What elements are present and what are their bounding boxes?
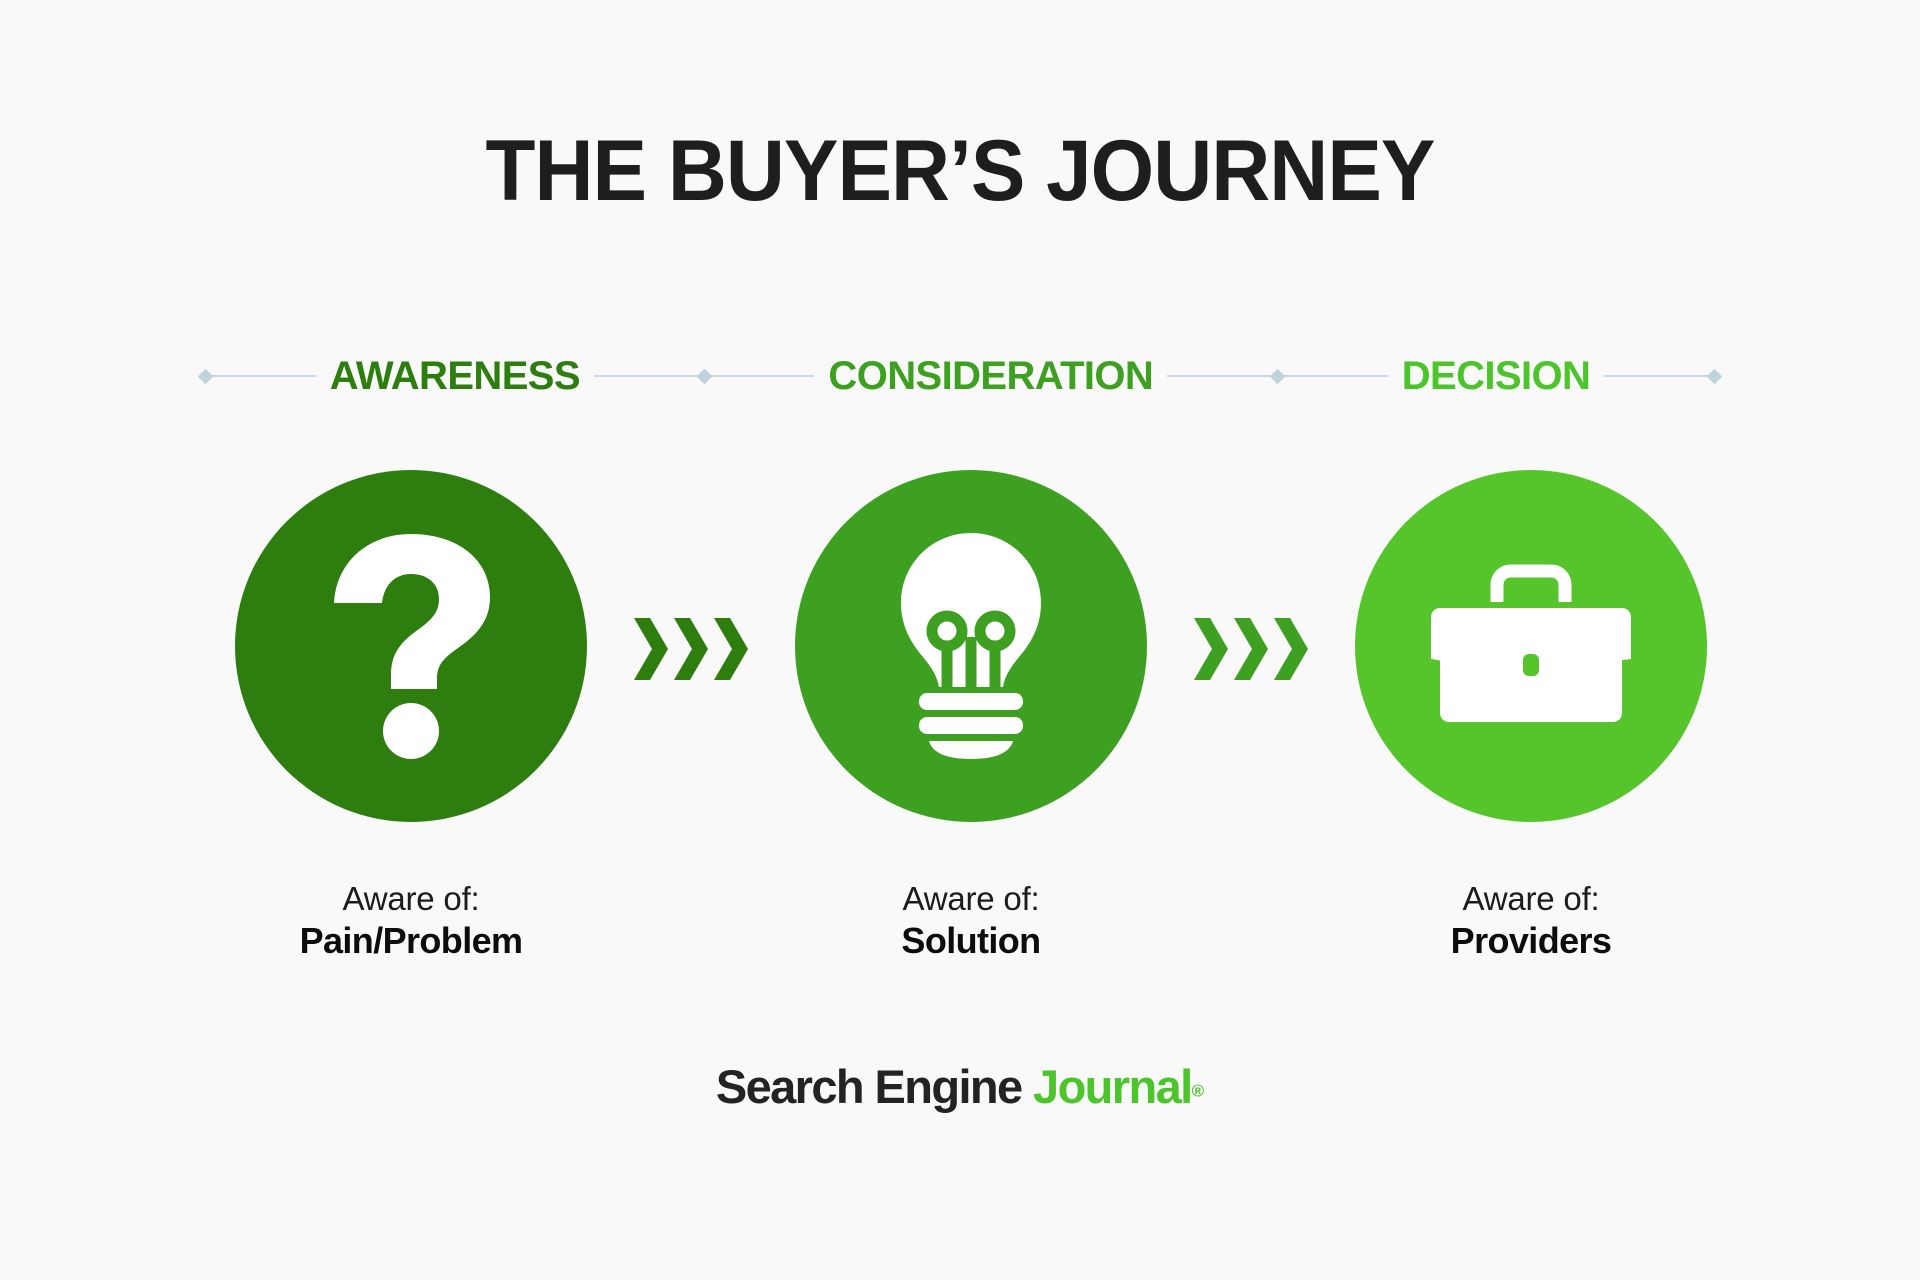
chevrons-right-icon [1194,618,1228,680]
timeline-segment [1604,375,1709,377]
connector-chevrons-1 [634,618,748,680]
chevrons-right-icon [674,618,708,680]
caption-value: Solution [795,919,1147,963]
stage-label-decision: DECISION [1388,356,1605,396]
chevrons-right-icon [714,618,748,680]
lightbulb-icon [881,533,1061,759]
diamond-marker-icon [696,368,712,384]
stage-circles-row [0,470,1920,830]
stage-label-consideration: CONSIDERATION [814,356,1167,396]
chevrons-right-icon [1274,618,1308,680]
caption-prefix: Aware of: [1355,880,1707,919]
diamond-marker-icon [1707,368,1723,384]
caption-consideration: Aware of: Solution [795,880,1147,963]
briefcase-icon [1426,560,1636,732]
stage-circle-consideration [795,470,1147,822]
caption-prefix: Aware of: [235,880,587,919]
caption-value: Pain/Problem [235,919,587,963]
timeline-segment [1167,375,1272,377]
brand-logo: Search Engine Journal® [0,1063,1920,1110]
stage-label-awareness: AWARENESS [316,356,594,396]
chevrons-right-icon [634,618,668,680]
caption-awareness: Aware of: Pain/Problem [235,880,587,963]
page-title: THE BUYER’S JOURNEY [48,128,1872,214]
timeline-segment [211,375,316,377]
logo-text-green: Journal [1033,1060,1192,1113]
caption-value: Providers [1355,919,1707,963]
stage-captions-row: Aware of: Pain/Problem Aware of: Solutio… [0,880,1920,1010]
timeline-segment [1283,375,1388,377]
logo-text-dark: Search Engine [716,1060,1022,1113]
timeline-segment [710,375,815,377]
diamond-marker-icon [198,368,214,384]
diamond-marker-icon [1270,368,1286,384]
question-mark-icon [316,531,506,761]
timeline-segment [594,375,699,377]
stage-circle-decision [1355,470,1707,822]
infographic-canvas: THE BUYER’S JOURNEY AWARENESS CONSIDERAT… [0,0,1920,1280]
chevrons-right-icon [1234,618,1268,680]
stage-timeline: AWARENESS CONSIDERATION DECISION [200,348,1720,404]
connector-chevrons-2 [1194,618,1308,680]
registered-trademark-icon: ® [1192,1082,1205,1101]
caption-prefix: Aware of: [795,880,1147,919]
stage-circle-awareness [235,470,587,822]
caption-decision: Aware of: Providers [1355,880,1707,963]
